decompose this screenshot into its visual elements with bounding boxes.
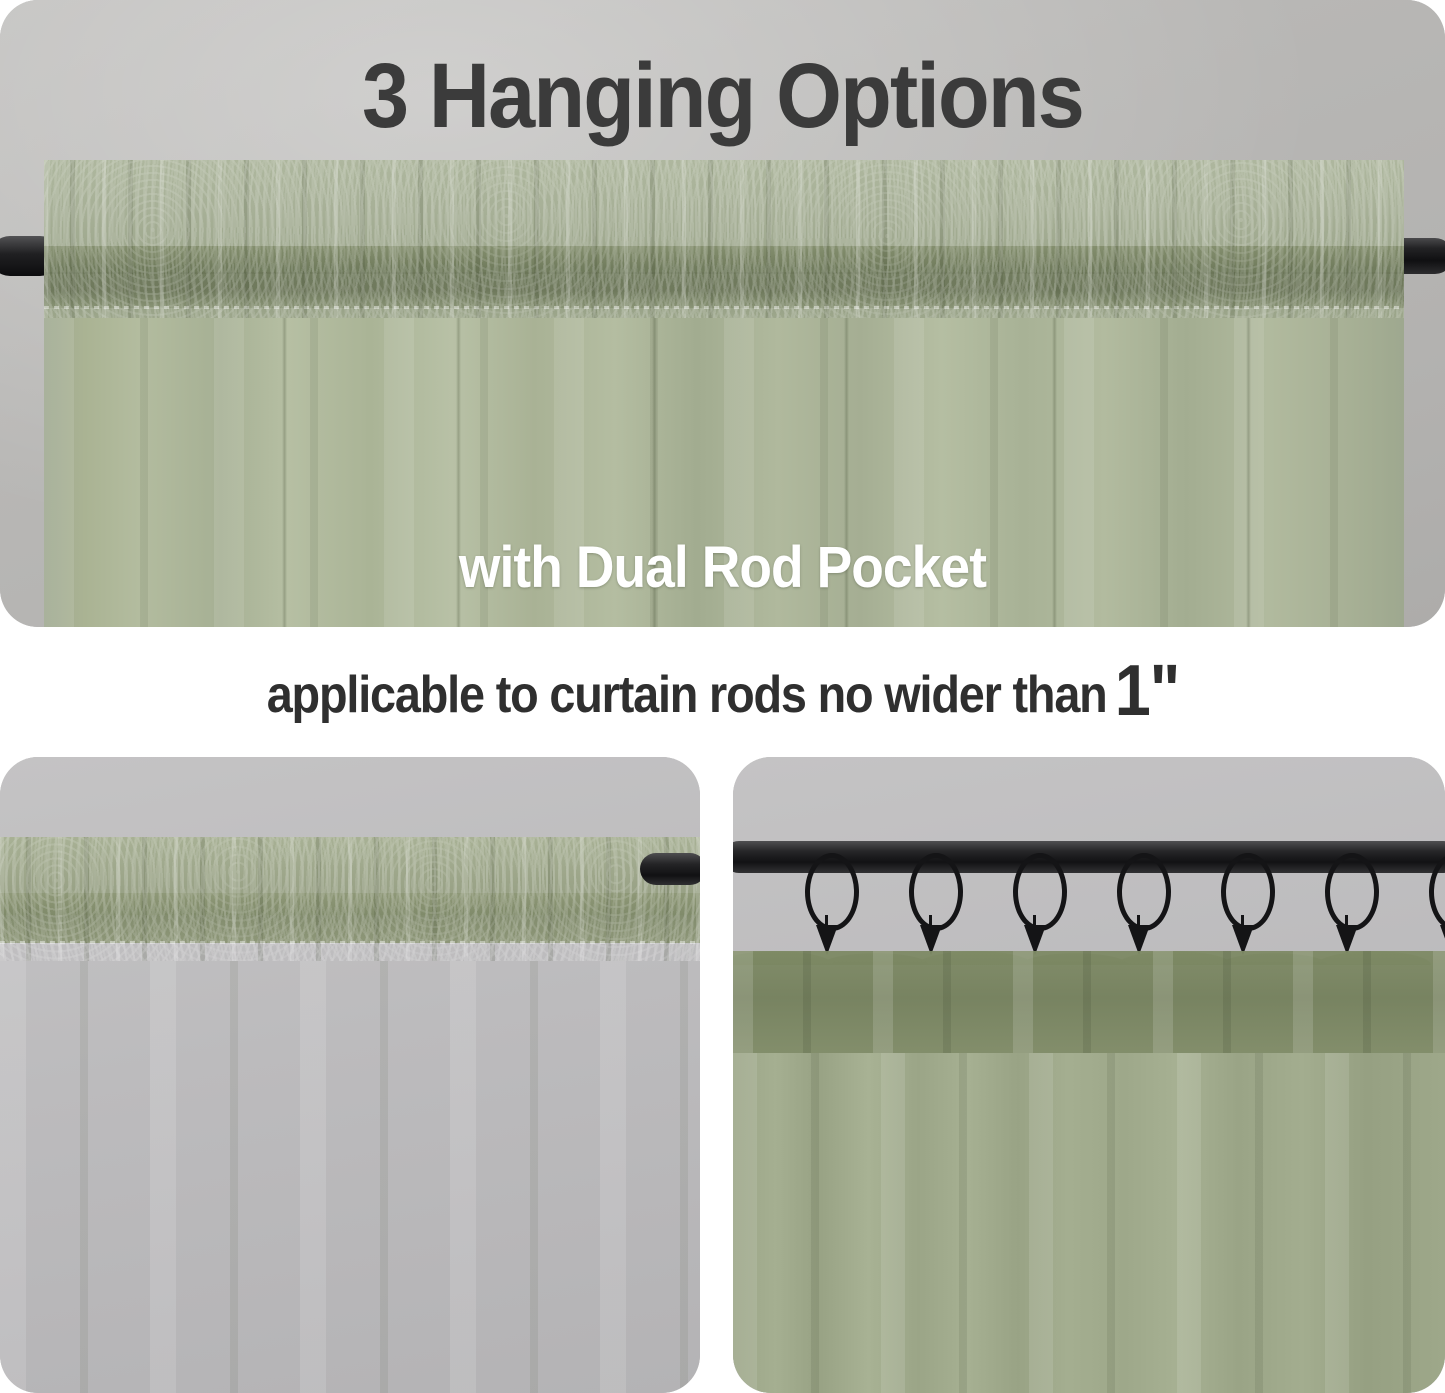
rod-width-note: applicable to curtain rods no wider than… [266,650,1178,732]
rod-width-note-band: applicable to curtain rods no wider than… [0,627,1445,755]
pole-top-header [0,837,700,961]
rod-width-measurement: 1" [1114,651,1178,731]
curtain-ring-icon [1117,853,1171,931]
sheer-fold-shading [733,951,1445,1055]
sheer-moire-shimmer [0,837,700,961]
page-title: 3 Hanging Options [58,44,1387,149]
curtain-fold-shading [0,961,700,1393]
top-hanging-option-panel: 3 Hanging Options with Dual Rod Pocket [0,0,1445,627]
clips-option-panel: with Clips(not included) [733,757,1445,1393]
curtain-ring-icon [1013,853,1067,931]
curtain-ring-icon [909,853,963,931]
curtain-fold-shading [733,1053,1445,1393]
curtain-ring-icon [1325,853,1379,931]
dual-rod-pocket-caption: with Dual Rod Pocket [58,534,1387,601]
pole-top-option-panel: Pole Top -with bottom hem [0,757,700,1393]
curtain-ring-icon [805,853,859,931]
curtain-ring-icon [1221,853,1275,931]
rod-width-note-text: applicable to curtain rods no wider than [266,666,1106,724]
curtain-rod-icon [640,853,700,885]
